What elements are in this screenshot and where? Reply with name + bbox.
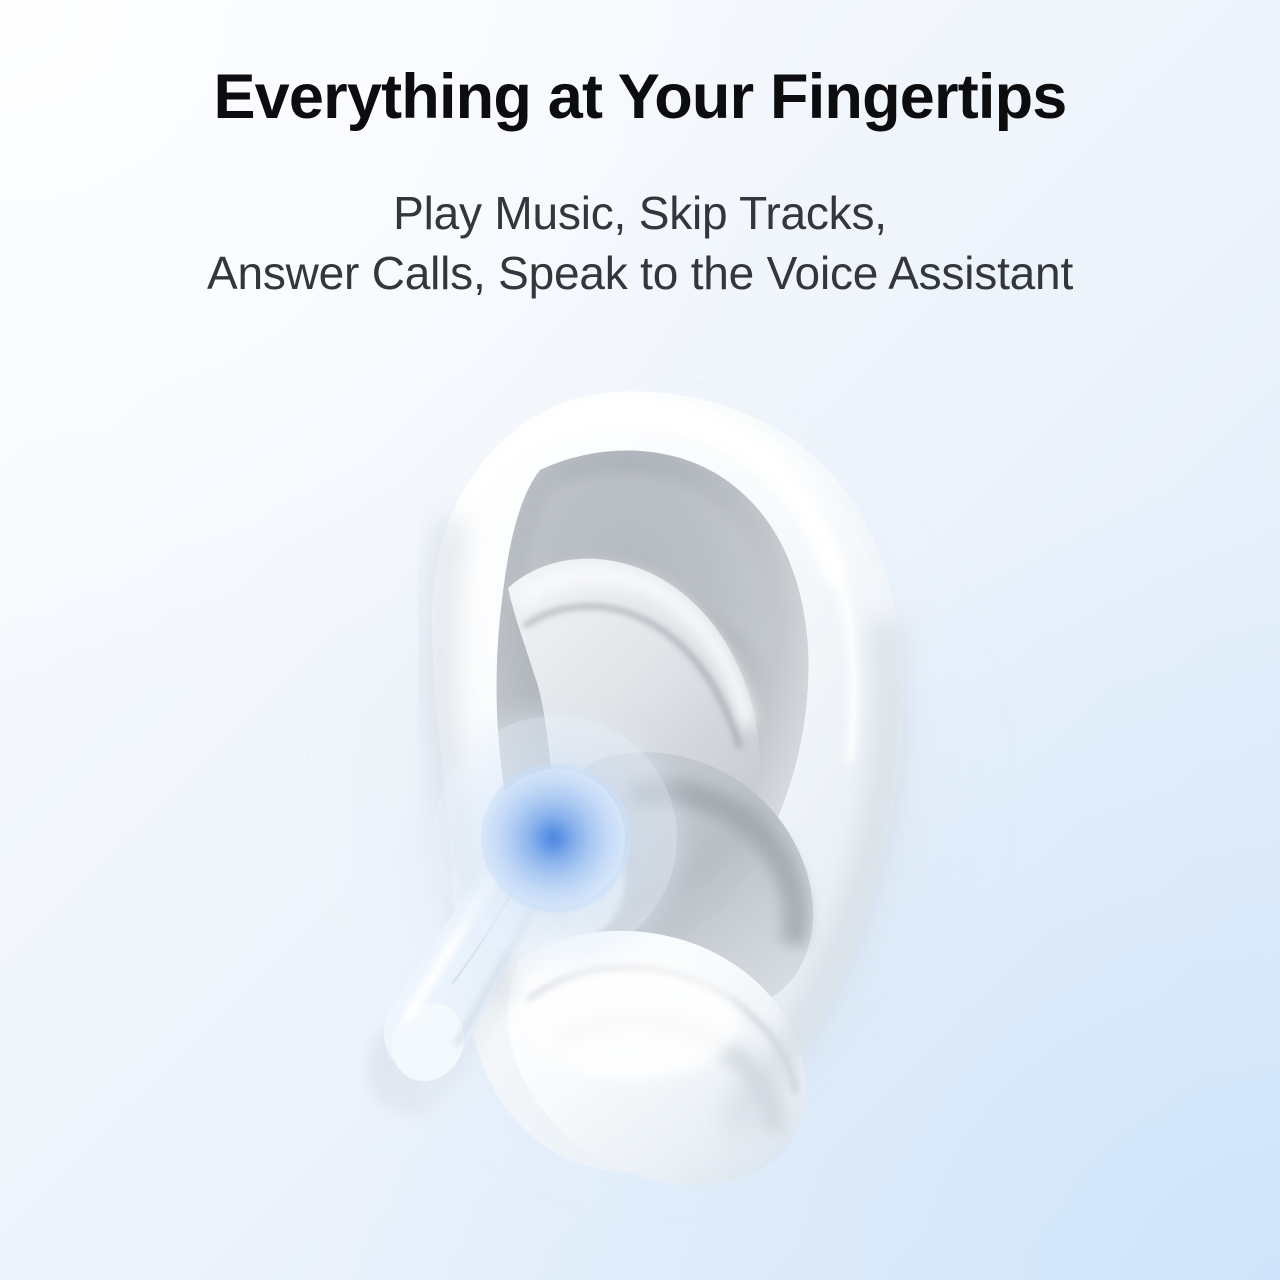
- ear-lobe-highlight: [532, 966, 740, 1078]
- promo-banner: Everything at Your Fingertips Play Music…: [0, 0, 1280, 1280]
- page-title: Everything at Your Fingertips: [0, 0, 1280, 131]
- page-subtitle: Play Music, Skip Tracks, Answer Calls, S…: [0, 131, 1280, 304]
- page-subtitle-line-2: Answer Calls, Speak to the Voice Assista…: [0, 243, 1280, 304]
- marketing-copy: Everything at Your Fingertips Play Music…: [0, 0, 1280, 304]
- page-subtitle-line-1: Play Music, Skip Tracks,: [0, 183, 1280, 244]
